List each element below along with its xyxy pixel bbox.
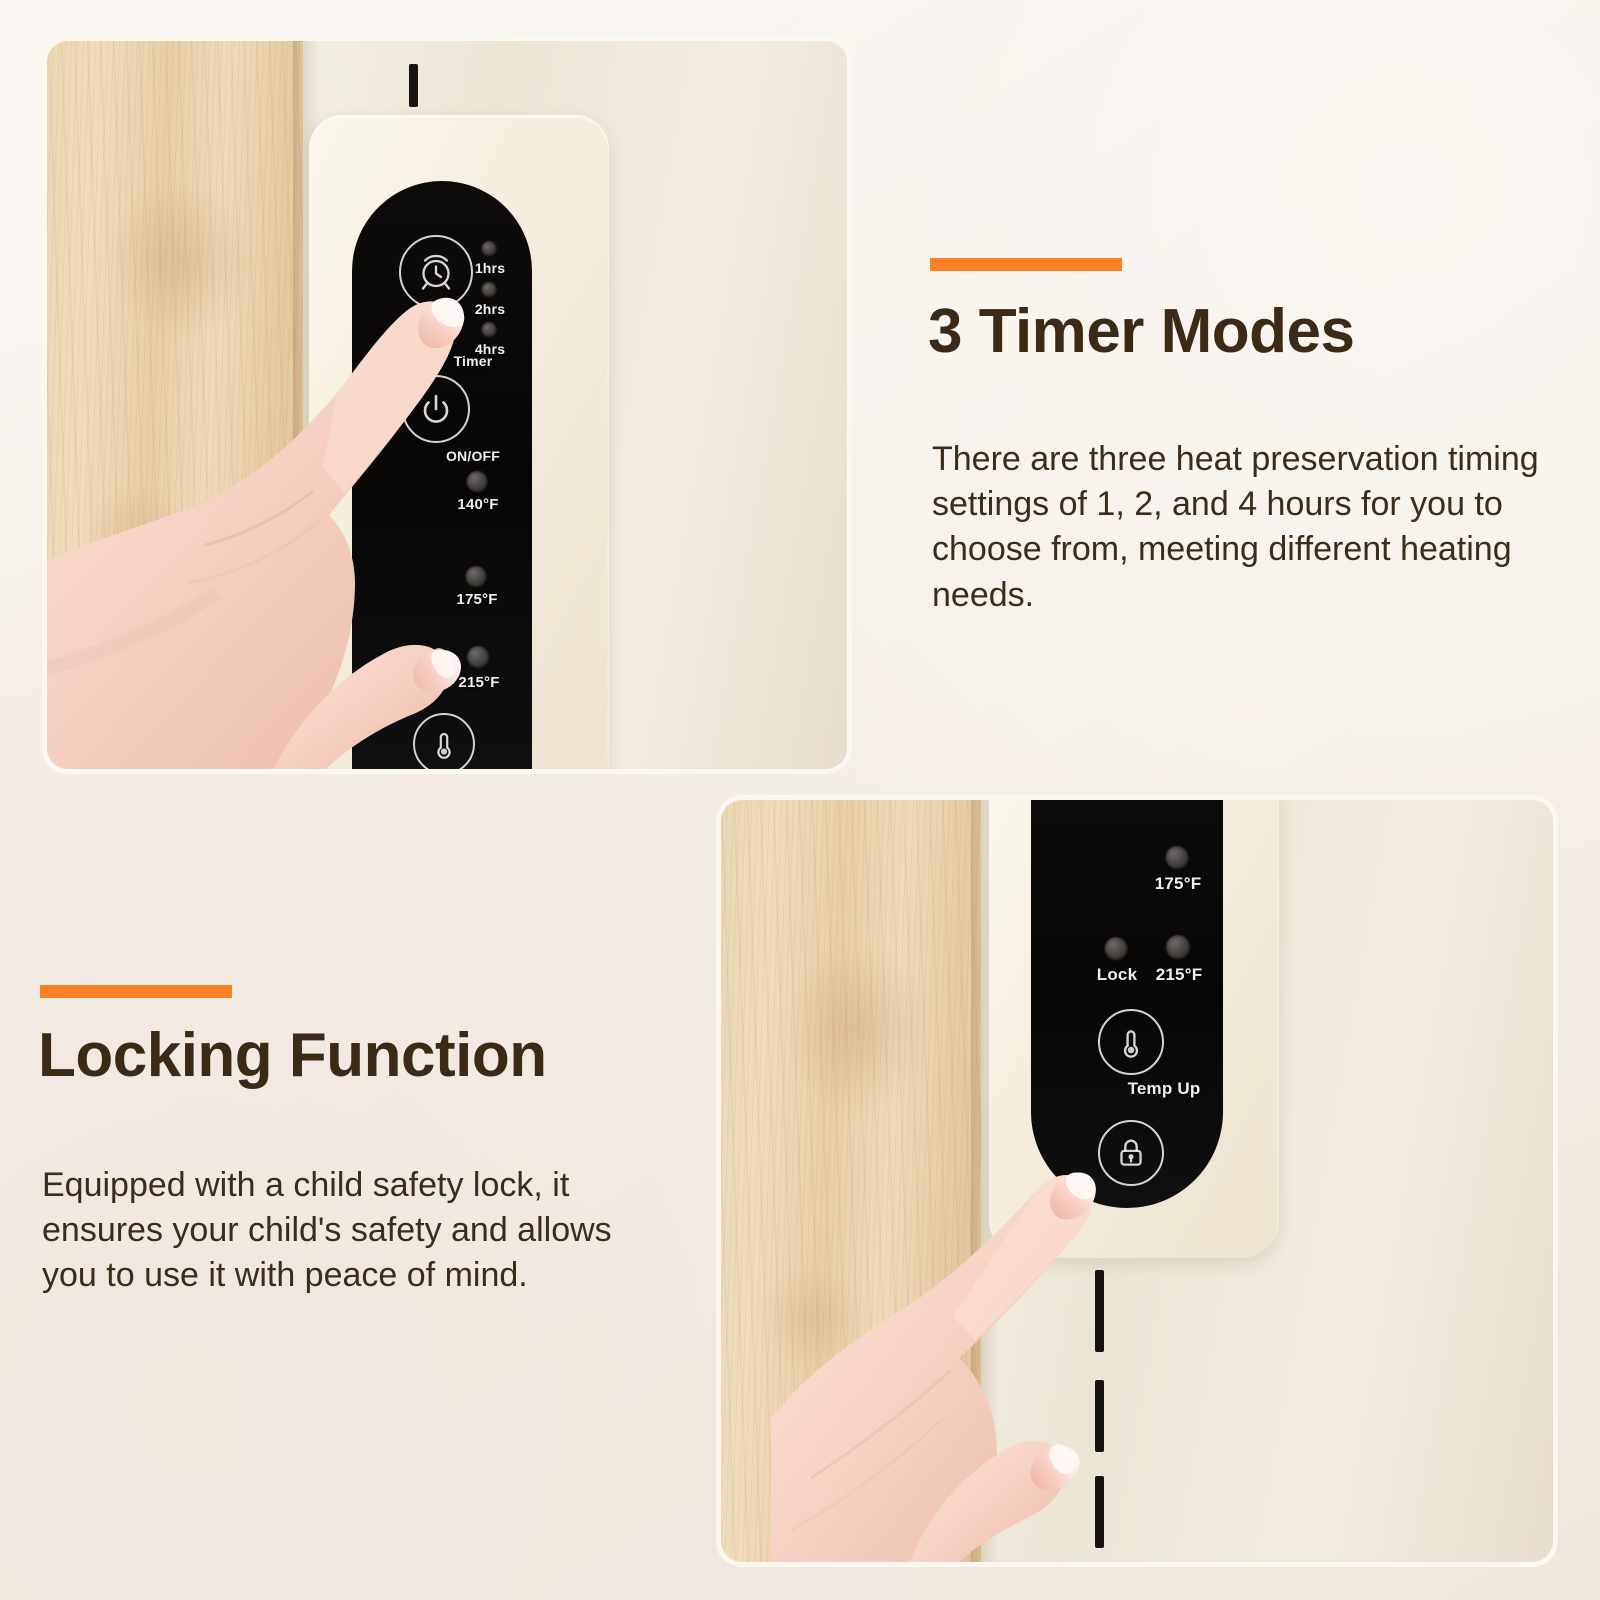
hand-pressing-timer — [42, 253, 497, 774]
temp-up-button[interactable] — [1098, 1009, 1164, 1075]
body-timer-modes: There are three heat preservation timing… — [932, 437, 1542, 618]
heading-timer-modes: 3 Timer Modes — [928, 300, 1355, 364]
indicator-label-lock: Lock — [1097, 965, 1137, 985]
led-215f — [1166, 935, 1190, 959]
timer-scene: Timer ON/OFF 1hrs 2hrs 4hrs — [47, 41, 847, 769]
body-locking-function: Equipped with a child safety lock, it en… — [42, 1163, 652, 1299]
temp-up-button-label: Temp Up — [1128, 1079, 1201, 1099]
photo-card-lock: 175°F Lock 215°F Temp Up — [716, 795, 1558, 1567]
feature-page: Timer ON/OFF 1hrs 2hrs 4hrs — [0, 0, 1600, 1600]
lock-scene: 175°F Lock 215°F Temp Up — [721, 800, 1553, 1562]
accent-bar-lock — [40, 985, 232, 998]
heading-locking-function: Locking Function — [38, 1024, 547, 1088]
indicator-label-175f: 175°F — [1155, 874, 1202, 894]
photo-card-timer: Timer ON/OFF 1hrs 2hrs 4hrs — [42, 36, 852, 774]
led-lock — [1105, 937, 1128, 960]
panel-seam-dash — [409, 64, 418, 107]
accent-bar-timer — [930, 258, 1122, 271]
indicator-label-215f: 215°F — [1156, 965, 1203, 985]
hand-pressing-lock — [751, 1118, 1181, 1567]
led-175f — [1166, 846, 1189, 869]
